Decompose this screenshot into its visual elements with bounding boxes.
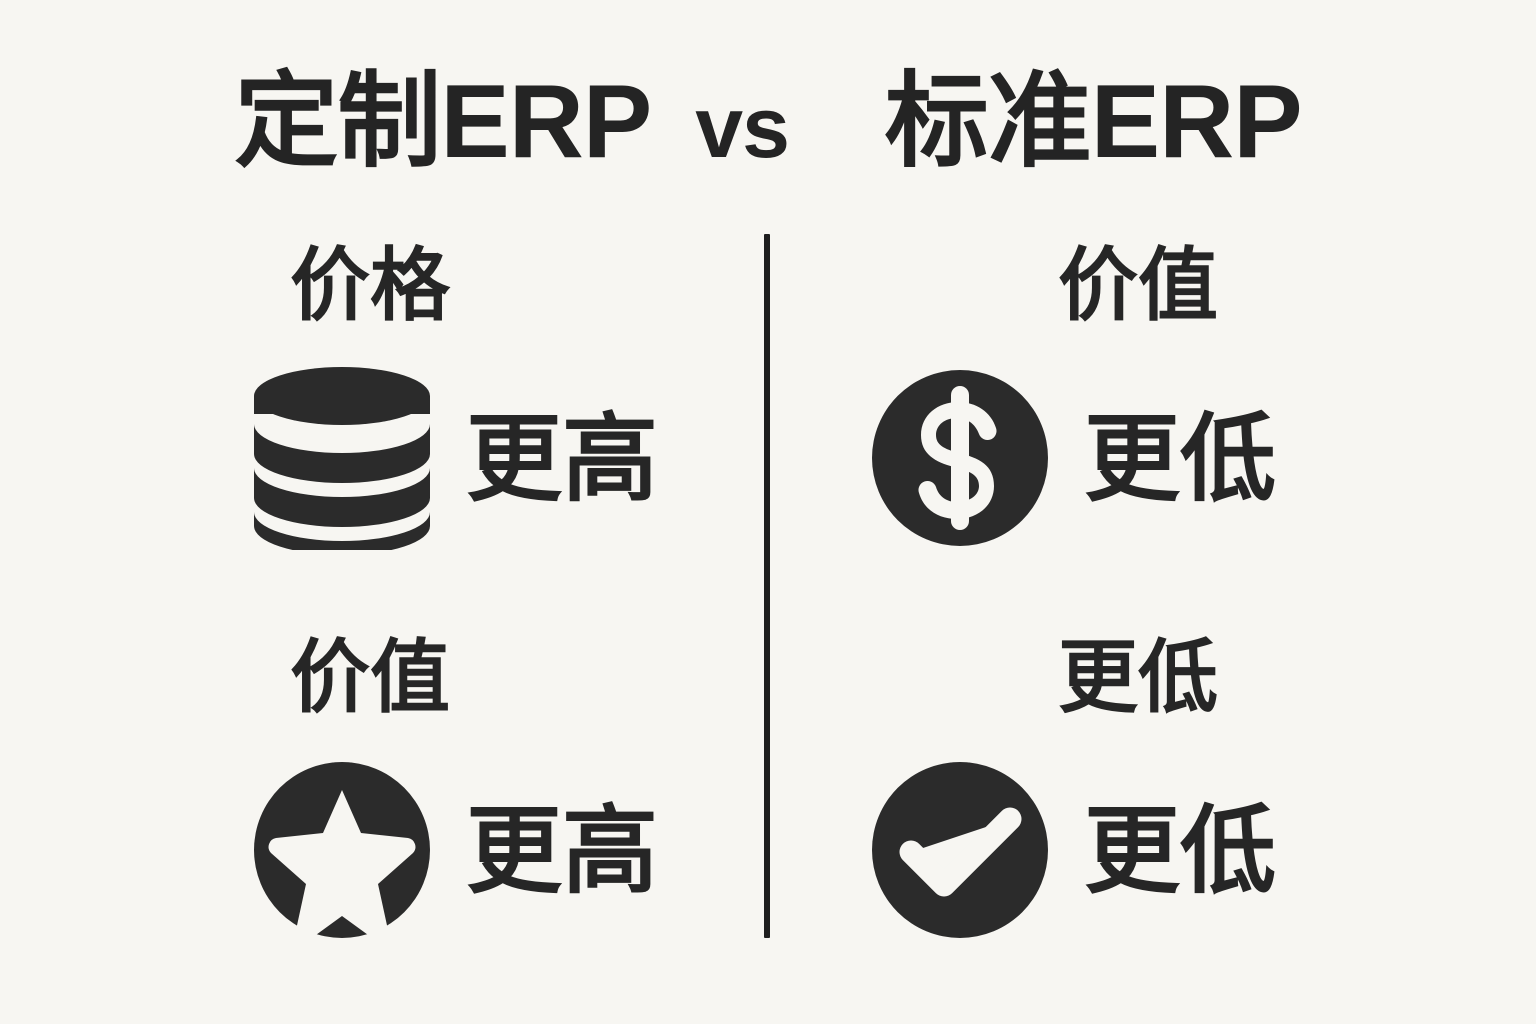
column-standard-erp: 价值 更低 更低 — [800, 226, 1440, 966]
comparison-infographic: 定制ERP vs 标准ERP 价格 — [0, 0, 1536, 1024]
database-stack-icon — [252, 366, 432, 550]
vertical-divider — [764, 234, 770, 938]
title-right-label: 标准ERP — [885, 64, 1302, 180]
column-custom-erp: 价格 更高 — [90, 226, 730, 966]
row-label: 价值 — [90, 632, 650, 724]
row-body: 更低 — [800, 358, 1440, 558]
row-label: 更低 — [858, 632, 1418, 724]
row-body: 更高 — [90, 358, 730, 558]
row-value: 更低 — [1084, 406, 1276, 510]
star-circle-icon — [252, 758, 432, 942]
title-left-label: 定制ERP — [234, 64, 649, 180]
title-separator: vs — [677, 80, 807, 176]
check-circle-icon — [870, 758, 1050, 942]
comparison-row: 价格 更高 — [90, 226, 730, 566]
row-label: 价格 — [90, 240, 650, 332]
comparison-row: 更低 更低 — [800, 618, 1440, 958]
row-value: 更低 — [1084, 798, 1276, 902]
row-label: 价值 — [858, 240, 1418, 332]
row-body: 更低 — [800, 750, 1440, 950]
row-value: 更高 — [466, 406, 658, 510]
row-value: 更高 — [466, 798, 658, 902]
page-title: 定制ERP vs 标准ERP — [0, 62, 1536, 188]
comparison-row: 价值 更高 — [90, 618, 730, 958]
comparison-row: 价值 更低 — [800, 226, 1440, 566]
row-body: 更高 — [90, 750, 730, 950]
dollar-circle-icon — [870, 366, 1050, 550]
